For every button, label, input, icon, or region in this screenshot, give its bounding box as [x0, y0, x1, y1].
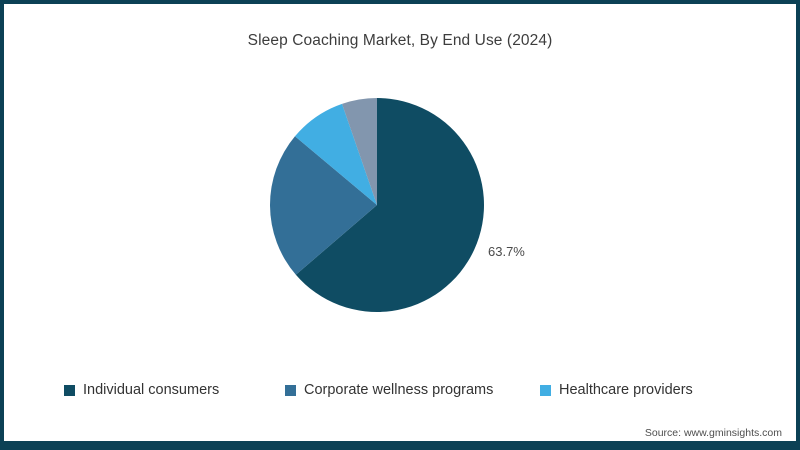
- source-attribution: Source: www.gminsights.com: [645, 427, 782, 439]
- chart-figure: Sleep Coaching Market, By End Use (2024)…: [0, 0, 800, 450]
- legend-swatch-icon: [285, 385, 296, 396]
- legend-item-individual-consumers[interactable]: Individual consumers: [64, 378, 219, 402]
- pie-slice-value-label: 63.7%: [488, 244, 525, 259]
- figure-bottom-bar: [0, 441, 800, 450]
- legend-swatch-icon: [540, 385, 551, 396]
- chart-legend: Individual consumers Corporate wellness …: [58, 378, 748, 402]
- page-title: Sleep Coaching Market, By End Use (2024): [0, 32, 800, 50]
- legend-swatch-icon: [64, 385, 75, 396]
- legend-item-label: Corporate wellness programs: [304, 382, 493, 398]
- pie-chart-svg: [270, 98, 484, 312]
- pie-slice-group: [270, 98, 484, 312]
- legend-item-corporate-wellness-programs[interactable]: Corporate wellness programs: [285, 378, 493, 402]
- pie-chart: [270, 98, 484, 312]
- legend-item-label: Individual consumers: [83, 382, 219, 398]
- legend-item-healthcare-providers[interactable]: Healthcare providers: [540, 378, 693, 402]
- legend-item-label: Healthcare providers: [559, 382, 693, 398]
